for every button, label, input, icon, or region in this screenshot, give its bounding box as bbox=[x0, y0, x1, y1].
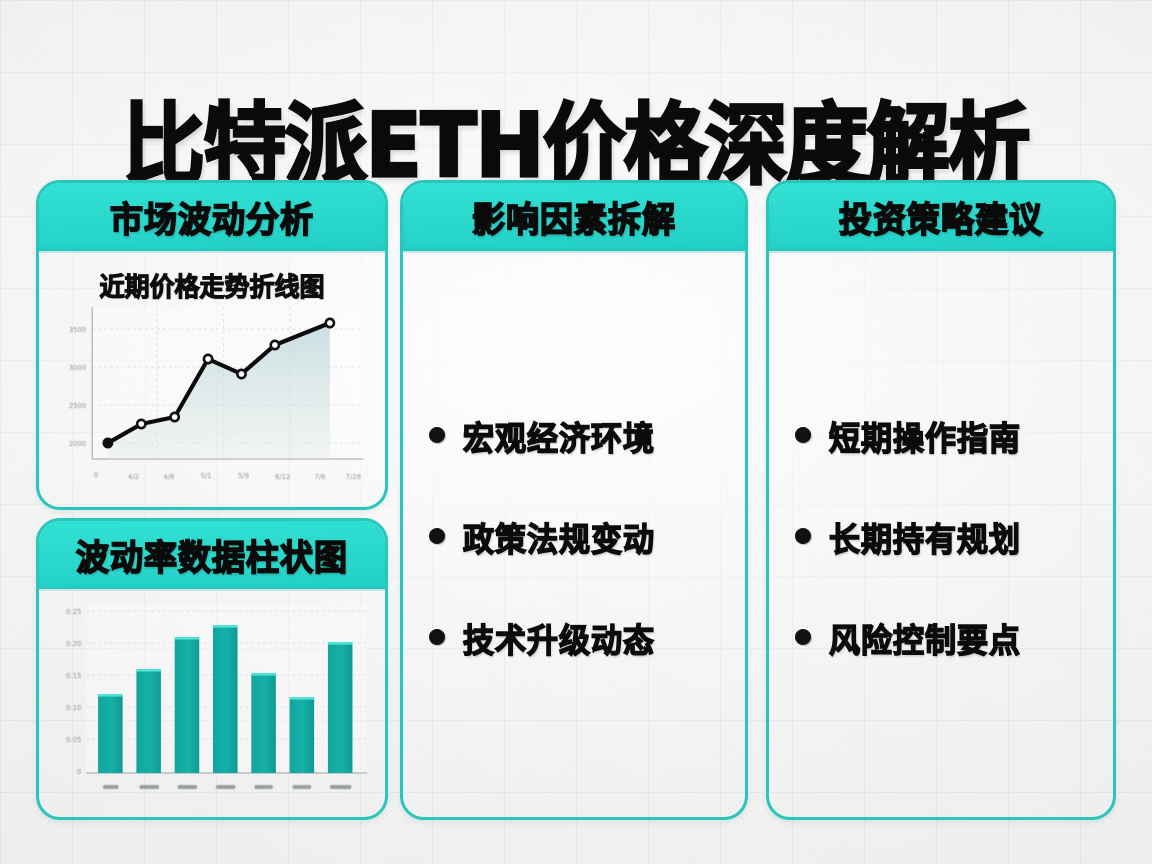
card-header-investment-strategy: 投资策略建议 bbox=[769, 183, 1113, 253]
svg-text:5/1: 5/1 bbox=[201, 472, 212, 480]
svg-text:2000: 2000 bbox=[69, 440, 86, 448]
strategy-bullet-list: 短期操作指南 长期持有规划 风险控制要点 bbox=[769, 253, 1113, 819]
svg-text:7/6: 7/6 bbox=[315, 473, 326, 481]
bar-chart-svg: 0.25 0.20 0.15 0.10 0.05 0 bbox=[47, 601, 377, 813]
svg-text:0: 0 bbox=[94, 471, 98, 479]
list-item[interactable]: 宏观经济环境 bbox=[429, 413, 735, 458]
card-body-market-volatility: 近期价格走势折线图 bbox=[39, 253, 385, 509]
card-influence-factors: 影响因素拆解 宏观经济环境 政策法规变动 技术升级动态 bbox=[400, 180, 748, 820]
svg-text:7/26: 7/26 bbox=[346, 473, 361, 481]
svg-text:4/2: 4/2 bbox=[128, 473, 139, 481]
bar-chart-plot: 0.25 0.20 0.15 0.10 0.05 0 bbox=[47, 601, 377, 813]
line-chart-subtitle: 近期价格走势折线图 bbox=[39, 252, 385, 305]
list-item-label: 宏观经济环境 bbox=[463, 411, 655, 459]
svg-text:4/8: 4/8 bbox=[163, 473, 174, 481]
bar-chart-xticklabels bbox=[103, 785, 351, 789]
svg-text:0.20: 0.20 bbox=[66, 640, 81, 648]
card-investment-strategy: 投资策略建议 短期操作指南 长期持有规划 风险控制要点 bbox=[766, 180, 1116, 820]
card-header-volatility-bars: 波动率数据柱状图 bbox=[39, 521, 385, 591]
bullet-dot-icon bbox=[795, 427, 811, 443]
card-market-volatility: 市场波动分析 近期价格走势折线图 bbox=[36, 180, 388, 510]
card-body-investment-strategy: 短期操作指南 长期持有规划 风险控制要点 bbox=[769, 253, 1113, 819]
card-header-influence-factors: 影响因素拆解 bbox=[403, 183, 745, 253]
list-item[interactable]: 技术升级动态 bbox=[429, 615, 735, 660]
list-item[interactable]: 短期操作指南 bbox=[795, 413, 1103, 458]
card-header-market-volatility: 市场波动分析 bbox=[39, 183, 385, 253]
bullet-dot-icon bbox=[429, 427, 445, 443]
card-volatility-bars: 波动率数据柱状图 0. bbox=[36, 518, 388, 820]
card-body-influence-factors: 宏观经济环境 政策法规变动 技术升级动态 bbox=[403, 253, 745, 819]
card-header-label: 市场波动分析 bbox=[110, 192, 314, 243]
line-chart-svg: 3500 3000 2500 2000 0 4/2 4/8 bbox=[47, 301, 377, 501]
card-header-label: 波动率数据柱状图 bbox=[76, 530, 348, 581]
svg-text:2500: 2500 bbox=[69, 402, 86, 410]
list-item-label: 技术升级动态 bbox=[463, 613, 655, 661]
list-item-label: 政策法规变动 bbox=[463, 512, 655, 560]
svg-text:0: 0 bbox=[77, 768, 81, 776]
bullet-dot-icon bbox=[429, 629, 445, 645]
list-item[interactable]: 风险控制要点 bbox=[795, 615, 1103, 660]
factors-bullet-list: 宏观经济环境 政策法规变动 技术升级动态 bbox=[403, 253, 745, 819]
svg-text:6/12: 6/12 bbox=[275, 473, 290, 481]
card-header-label: 投资策略建议 bbox=[839, 192, 1043, 243]
bullet-dot-icon bbox=[795, 629, 811, 645]
svg-text:0.05: 0.05 bbox=[66, 736, 81, 744]
list-item-label: 长期持有规划 bbox=[829, 512, 1021, 560]
bullet-dot-icon bbox=[429, 528, 445, 544]
svg-text:0.15: 0.15 bbox=[66, 672, 81, 680]
list-item-label: 风险控制要点 bbox=[829, 613, 1021, 661]
svg-text:3500: 3500 bbox=[69, 326, 86, 334]
list-item-label: 短期操作指南 bbox=[829, 411, 1021, 459]
svg-text:3000: 3000 bbox=[69, 364, 86, 372]
card-header-label: 影响因素拆解 bbox=[472, 192, 676, 243]
list-item[interactable]: 政策法规变动 bbox=[429, 514, 735, 559]
list-item[interactable]: 长期持有规划 bbox=[795, 514, 1103, 559]
card-body-volatility-bars: 0.25 0.20 0.15 0.10 0.05 0 bbox=[39, 591, 385, 819]
svg-text:0.25: 0.25 bbox=[66, 608, 81, 616]
svg-text:5/9: 5/9 bbox=[238, 472, 249, 480]
line-chart-plot: 3500 3000 2500 2000 0 4/2 4/8 bbox=[47, 301, 377, 501]
bullet-dot-icon bbox=[795, 528, 811, 544]
svg-text:0.10: 0.10 bbox=[66, 704, 81, 712]
